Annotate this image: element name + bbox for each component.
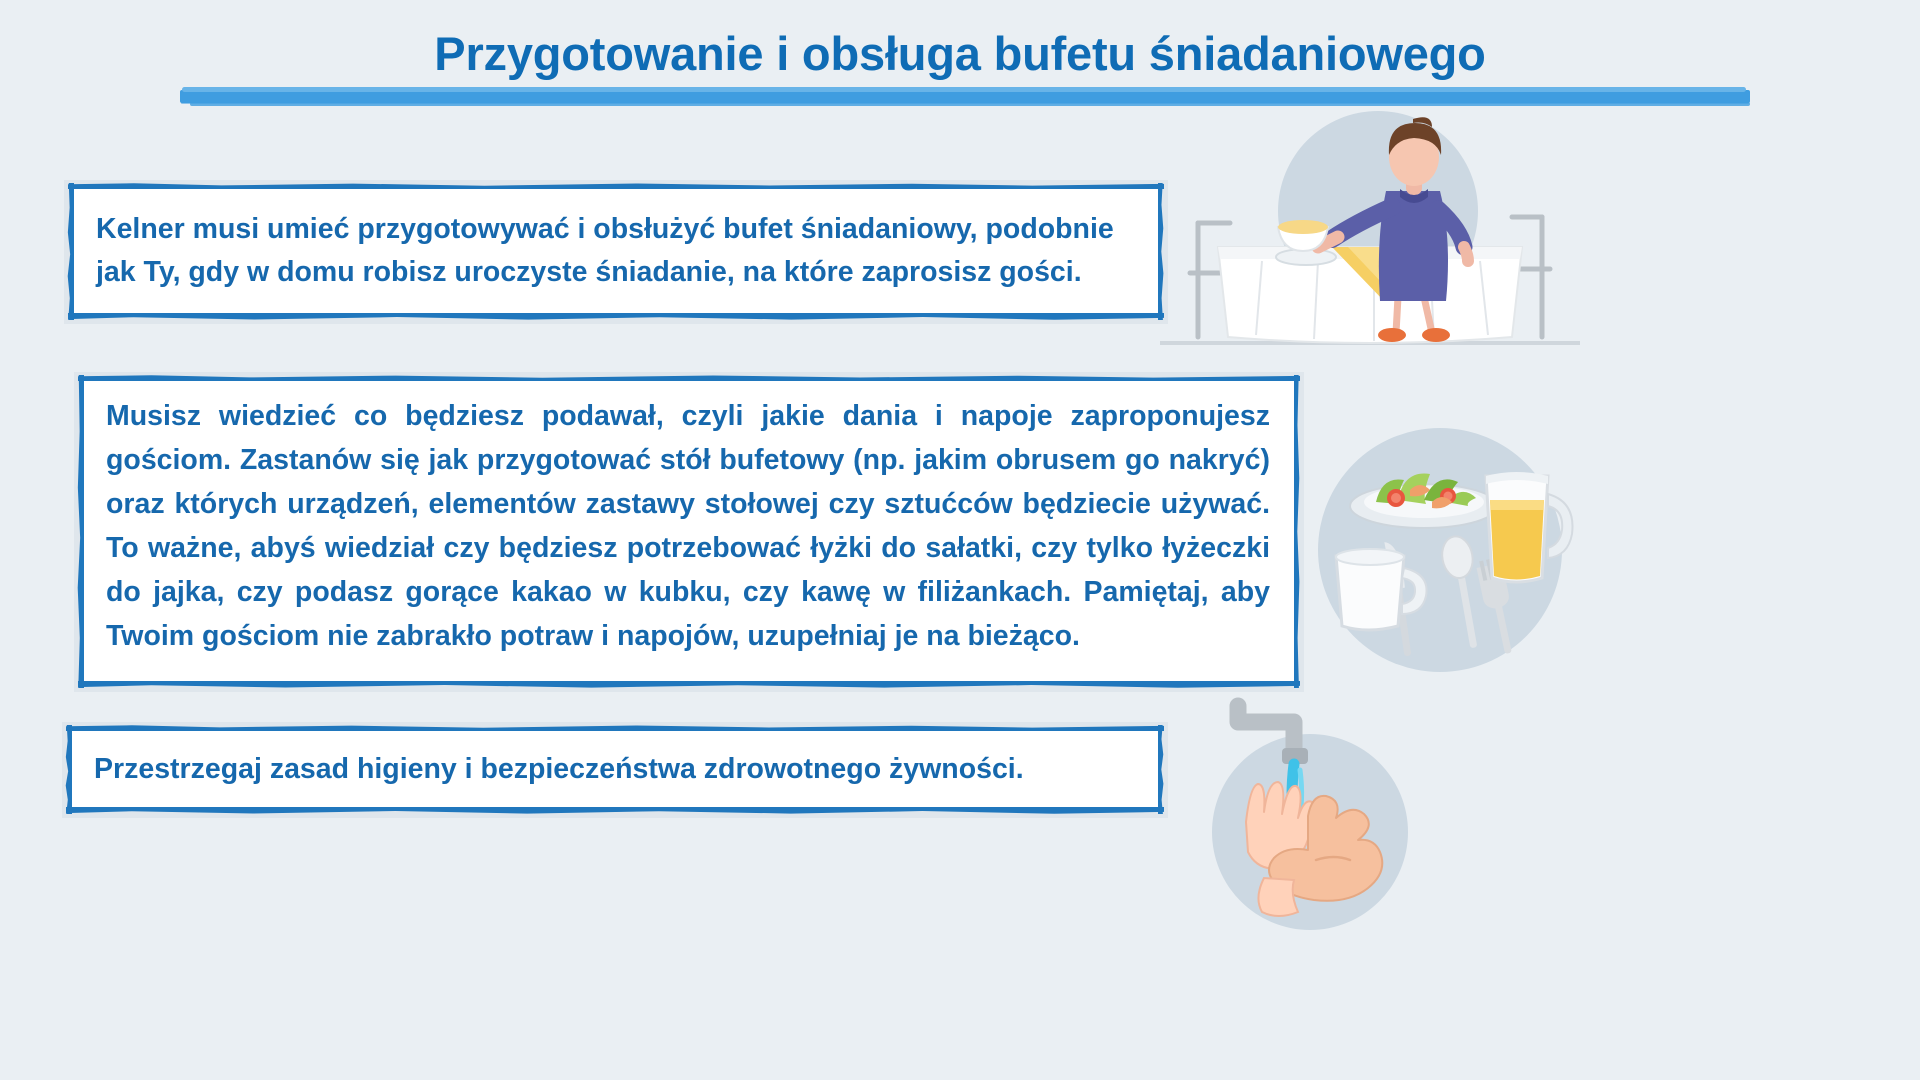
handwashing-under-tap-icon [1190, 700, 1430, 930]
content-card-1: Kelner musi umieć przygotowywać i obsłuż… [64, 180, 1168, 324]
page-title-text: Przygotowanie i obsługa bufetu śniadanio… [180, 28, 1740, 80]
salad-juice-and-tableware-icon [1300, 410, 1580, 690]
card-1-border-top [68, 183, 1164, 189]
title-underline-decoration [180, 90, 1750, 103]
slide-root: Przygotowanie i obsługa bufetu śniadanio… [0, 0, 1920, 1080]
card-2-border-left [77, 375, 84, 688]
page-title: Przygotowanie i obsługa bufetu śniadanio… [180, 28, 1740, 103]
card-3-border-right [1158, 725, 1164, 814]
card-2-border-bottom [78, 681, 1300, 688]
card-3-border-left [65, 725, 72, 814]
content-card-3-inner: Przestrzegaj zasad higieny i bezpieczeńs… [68, 728, 1160, 810]
card-3-border-top [66, 725, 1164, 731]
content-card-2-text: Musisz wiedzieć co będziesz podawał, czy… [106, 394, 1270, 658]
content-card-2: Musisz wiedzieć co będziesz podawał, czy… [74, 372, 1304, 692]
card-1-border-bottom [68, 313, 1164, 320]
content-card-1-inner: Kelner musi umieć przygotowywać i obsłuż… [70, 186, 1160, 316]
content-card-3-text: Przestrzegaj zasad higieny i bezpieczeńs… [94, 748, 1024, 791]
content-card-3: Przestrzegaj zasad higieny i bezpieczeńs… [62, 722, 1168, 818]
content-card-1-text: Kelner musi umieć przygotowywać i obsłuż… [96, 208, 1134, 295]
card-2-border-top [78, 375, 1300, 381]
card-1-border-left [67, 183, 74, 320]
content-card-2-inner: Musisz wiedzieć co będziesz podawał, czy… [80, 378, 1296, 684]
card-3-border-bottom [66, 807, 1164, 814]
waitress-setting-breakfast-table-icon [1160, 105, 1580, 355]
